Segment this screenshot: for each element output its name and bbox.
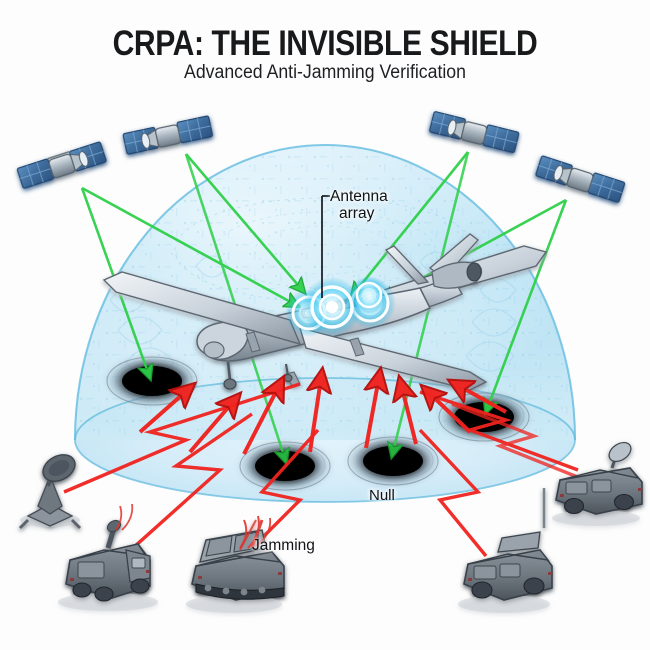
satellite-2 <box>123 116 213 155</box>
jamming-emission-waves-left <box>116 504 132 530</box>
satellite-1 <box>17 142 107 189</box>
jammer-tracked-vehicle <box>186 520 284 613</box>
humvee-center-right <box>458 488 552 613</box>
antenna-array-label-line2: array <box>330 205 388 222</box>
null-label: Null <box>369 487 395 504</box>
scene-illustration <box>0 0 650 650</box>
infographic-canvas: CRPA: THE INVISIBLE SHIELD Advanced Anti… <box>0 0 650 650</box>
antenna-array-label: Antenna array <box>330 188 388 222</box>
jamming-label: Jamming <box>252 537 315 554</box>
antenna-element-4 <box>350 276 388 314</box>
antenna-array-label-line1: Antenna <box>330 188 388 205</box>
null-left <box>100 352 204 410</box>
satellite-4 <box>536 156 626 203</box>
jammer-truck-left <box>58 518 158 611</box>
satellite-3 <box>429 111 519 152</box>
